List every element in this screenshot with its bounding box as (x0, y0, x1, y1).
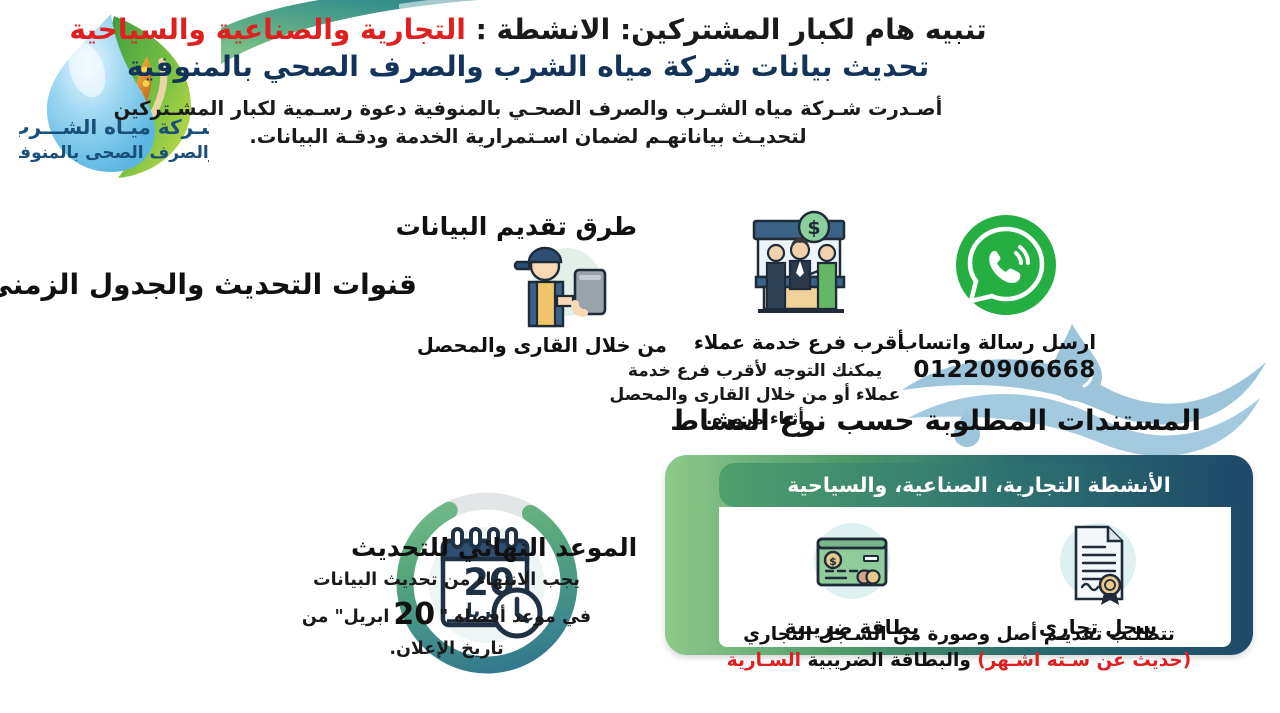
alert-prefix: تنبيه هام لكبار المشتركين: الانشطة : (467, 13, 988, 46)
documents-card-header: الأنشطة التجارية، الصناعية، والسياحية (720, 463, 1240, 507)
tax-card-icon: $ (803, 513, 903, 613)
deadline-date-number: 20 (390, 597, 440, 632)
meter-reader-icon (502, 242, 622, 330)
documents-section-title: المستندات المطلوبة حسب نوع النشاط (671, 404, 1202, 437)
alert-highlight: التجارية والصناعية والسياحية (70, 13, 466, 46)
deadline-date-month: ابريل (345, 607, 391, 627)
channel-meter-reader[interactable]: من خلال القارى والمحصل (456, 242, 668, 358)
channel-service-branch[interactable]: $ أقرب فرع خدمة عملاء (694, 205, 906, 355)
header-block: تنبيه هام لكبار المشتركين: الانشطة : الت… (14, 12, 1044, 152)
channel-whatsapp[interactable]: ارسل رسالة واتساب 01220906668 (917, 213, 1097, 383)
footnote-red2: السـارية (728, 650, 802, 671)
documents-footnote: تتطلـب تقديـم أصل وصورة من السـجل التجار… (680, 622, 1240, 675)
footnote-part2: والبطاقة الضريبية (802, 650, 978, 671)
document-item-tax-card[interactable]: $ بطاقة ضريبية (758, 513, 948, 639)
deadline-body: يجب الانتهاء من تحديث البيانات في موعد أ… (300, 568, 595, 662)
header-subtitle: أصـدرت شـركة مياه الشـرب والصرف الصحـي ب… (14, 95, 1044, 152)
page-title: تحديث بيانات شركة مياه الشرب والصرف الصح… (14, 49, 1044, 84)
channel-reader-label: من خلال القارى والمحصل (456, 334, 668, 358)
svg-text:$: $ (808, 217, 821, 239)
footnote-red1: (حديث عن سـته اشـهر) (978, 650, 1192, 671)
whatsapp-icon (955, 213, 1059, 317)
commercial-register-icon (1049, 513, 1149, 613)
channels-section-title: قنوات التحديث والجدول الزمني (0, 268, 418, 301)
infographic-poster: شـركة ميـاه الشـــرب والصرف الصحى بالمنو… (0, 0, 1280, 713)
deadline-title: الموعد النهائي للتحديث (352, 533, 638, 562)
document-item-commercial-register[interactable]: سجل تجارى (1004, 513, 1194, 639)
alert-line: تنبيه هام لكبار المشتركين: الانشطة : الت… (14, 12, 1044, 47)
svg-text:$: $ (830, 555, 838, 568)
service-branch-icon: $ (737, 205, 863, 325)
footnote-part1: تتطلـب تقديـم أصل وصورة من السـجل التجار… (744, 624, 1176, 645)
methods-section-title: طرق تقديم البيانات (397, 212, 638, 241)
documents-list: سجل تجارى $ (720, 513, 1232, 639)
whatsapp-phone-number[interactable]: 01220906668 (917, 357, 1097, 383)
channel-whatsapp-label: ارسل رسالة واتساب (917, 331, 1097, 355)
channel-branch-label: أقرب فرع خدمة عملاء (694, 331, 906, 355)
